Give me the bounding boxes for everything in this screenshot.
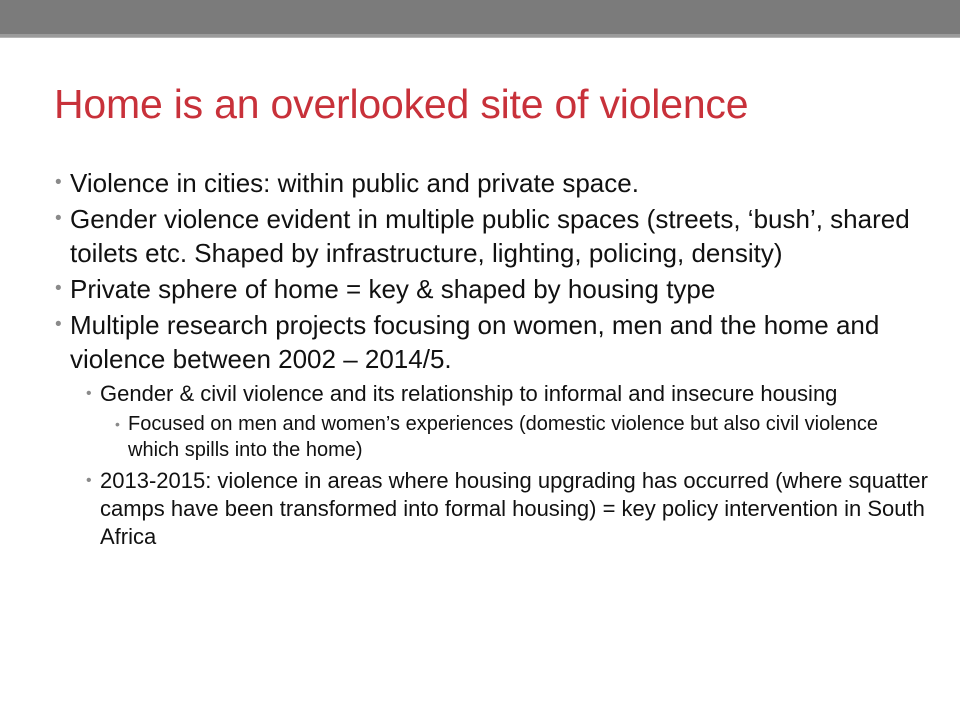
slide-header-band	[0, 0, 960, 34]
bullet-marker-icon: •	[80, 380, 100, 408]
bullet-text: Gender & civil violence and its relation…	[100, 380, 928, 408]
bullet-marker-icon: •	[48, 166, 70, 200]
bullet-item: • Gender violence evident in multiple pu…	[48, 202, 928, 270]
bullet-marker-icon: •	[48, 308, 70, 342]
bullet-item: • Multiple research projects focusing on…	[48, 308, 928, 376]
bullet-text: Gender violence evident in multiple publ…	[70, 202, 928, 270]
bullet-marker-icon: •	[48, 272, 70, 306]
sub-sub-bullet-item: • Focused on men and women’s experiences…	[110, 411, 928, 463]
bullet-item: • Violence in cities: within public and …	[48, 166, 928, 200]
slide-body-content: • Violence in cities: within public and …	[48, 166, 928, 551]
bullet-text: 2013-2015: violence in areas where housi…	[100, 467, 928, 551]
slide-header-band-edge-highlight	[0, 37, 960, 38]
bullet-text: Private sphere of home = key & shaped by…	[70, 272, 928, 306]
sub-bullet-item: • Gender & civil violence and its relati…	[80, 380, 928, 408]
bullet-text: Violence in cities: within public and pr…	[70, 166, 928, 200]
bullet-marker-icon: •	[48, 202, 70, 236]
bullet-marker-icon: •	[110, 411, 128, 437]
bullet-text: Multiple research projects focusing on w…	[70, 308, 928, 376]
bullet-marker-icon: •	[80, 467, 100, 495]
bullet-item: • Private sphere of home = key & shaped …	[48, 272, 928, 306]
bullet-text: Focused on men and women’s experiences (…	[128, 411, 928, 463]
presentation-slide: Home is an overlooked site of violence •…	[0, 0, 960, 720]
sub-bullet-item: • 2013-2015: violence in areas where hou…	[80, 467, 928, 551]
slide-title: Home is an overlooked site of violence	[54, 80, 914, 128]
